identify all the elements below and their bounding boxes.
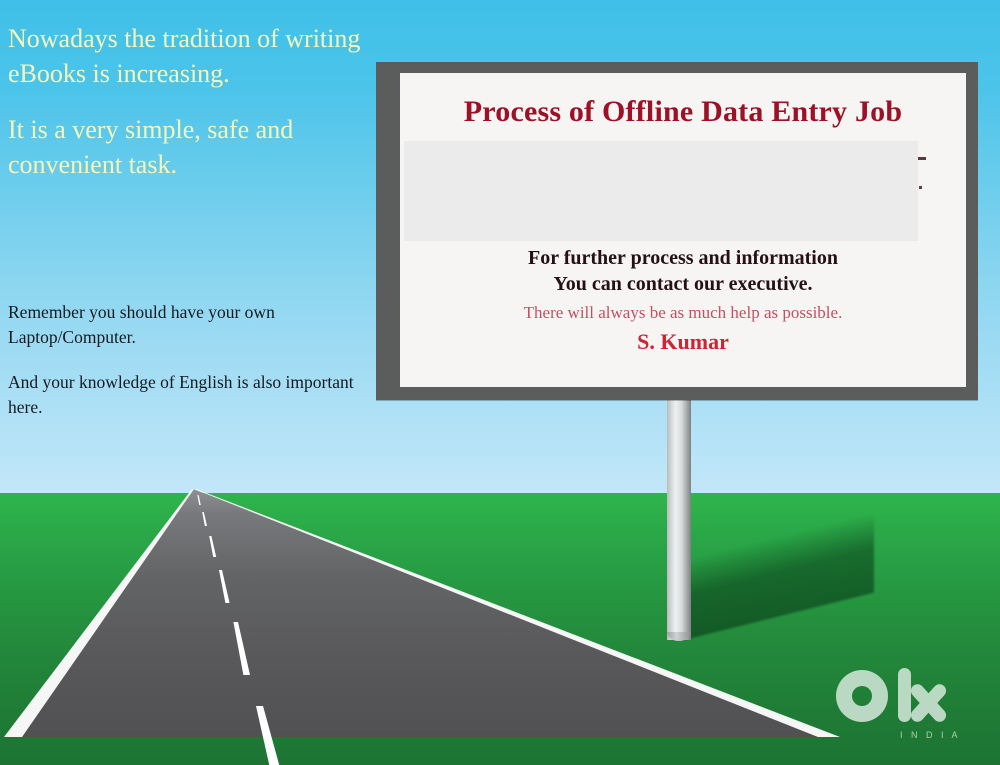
billboard[interactable]: Process of Offline Data Entry Job For fu… — [376, 62, 978, 400]
billboard-face: Process of Offline Data Entry Job For fu… — [400, 73, 966, 387]
billboard-post — [667, 398, 691, 640]
dot-mark-icon — [919, 186, 922, 189]
billboard-body-line-2: You can contact our executive. — [400, 271, 966, 297]
billboard-body-line-3: There will always be as much help as pos… — [400, 300, 966, 326]
billboard-body: For further process and information You … — [400, 245, 966, 358]
olx-watermark-sub: I N D I A — [900, 730, 961, 740]
billboard-inner-panel — [404, 141, 918, 241]
headline-paragraph-1: Nowadays the tradition of writing eBooks… — [8, 22, 368, 91]
billboard-signature: S. Kumar — [400, 327, 966, 358]
billboard-advertisement-scene: Process of Offline Data Entry Job For fu… — [0, 0, 1000, 765]
road — [0, 486, 1000, 765]
subcopy-paragraph-2: And your knowledge of English is also im… — [8, 370, 360, 420]
subcopy: Remember you should have your own Laptop… — [8, 300, 360, 419]
road-graphic — [0, 486, 1000, 765]
subcopy-paragraph-1: Remember you should have your own Laptop… — [8, 300, 360, 350]
dash-mark-icon — [918, 157, 926, 160]
road-surface — [8, 489, 830, 737]
headline-paragraph-2: It is a very simple, safe and convenient… — [8, 113, 368, 182]
billboard-body-line-1: For further process and information — [400, 245, 966, 271]
billboard-title: Process of Offline Data Entry Job — [400, 73, 966, 128]
headline-copy: Nowadays the tradition of writing eBooks… — [8, 22, 368, 182]
